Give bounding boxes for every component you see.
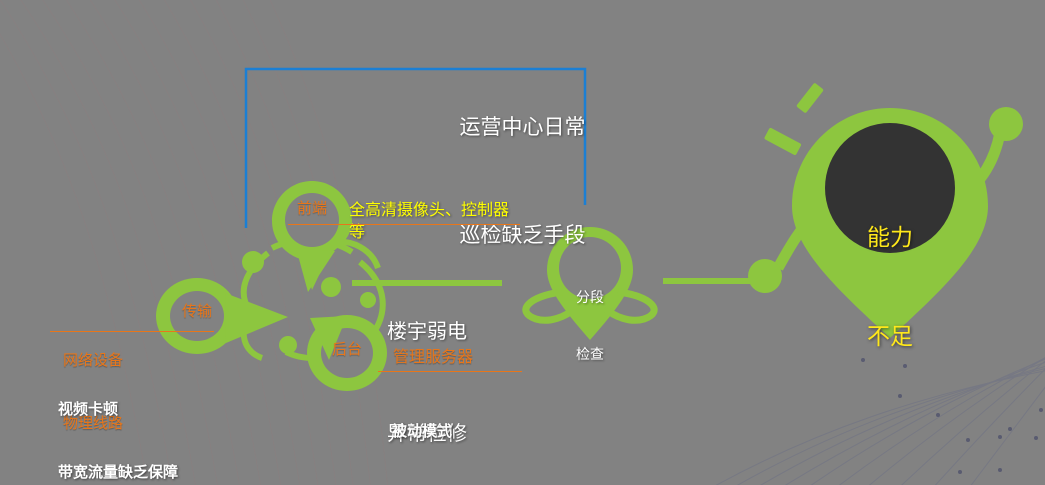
pin-label-segment-check-line-2: 检查 [560,345,620,364]
annotation-backend-category: 管理服务器 [393,347,553,368]
pin-label-backend: 后台 [317,341,377,359]
annotation-frontend-category: 全高清摄像头、控制器 等 [349,200,549,244]
annotation-transmission-detail-line-2: 带宽流量缺乏保障 [58,462,258,483]
pin-label-segment-check-line-1: 分段 [560,288,620,307]
pin-label-capability-line-2: 不足 [830,320,950,353]
slide-canvas: 运营中心日常 巡检缺乏手段 楼宇弱电 异常检修 前端 传输 后台 分段 检查 能… [0,0,1045,485]
pin-label-frontend: 前端 [282,200,342,218]
pin-label-capability-line-1: 能力 [830,221,950,254]
annotation-transmission-underline [50,331,214,332]
annotation-backend-details: 被动模式 服务响应水平效率低 风险事件滞后性 [392,379,612,485]
pin-label-capability: 能力 不足 [830,155,950,419]
annotation-backend-underline [378,371,522,372]
annotation-backend-detail-line-1: 被动模式 [392,421,612,442]
annotation-frontend-underline [288,224,520,225]
annotation-transmission-details: 视频卡顿 带宽流量缺乏保障 [58,357,258,485]
annotation-transmission-detail-line-1: 视频卡顿 [58,399,258,420]
header-title-line-1: 运营中心日常 [0,110,1045,146]
